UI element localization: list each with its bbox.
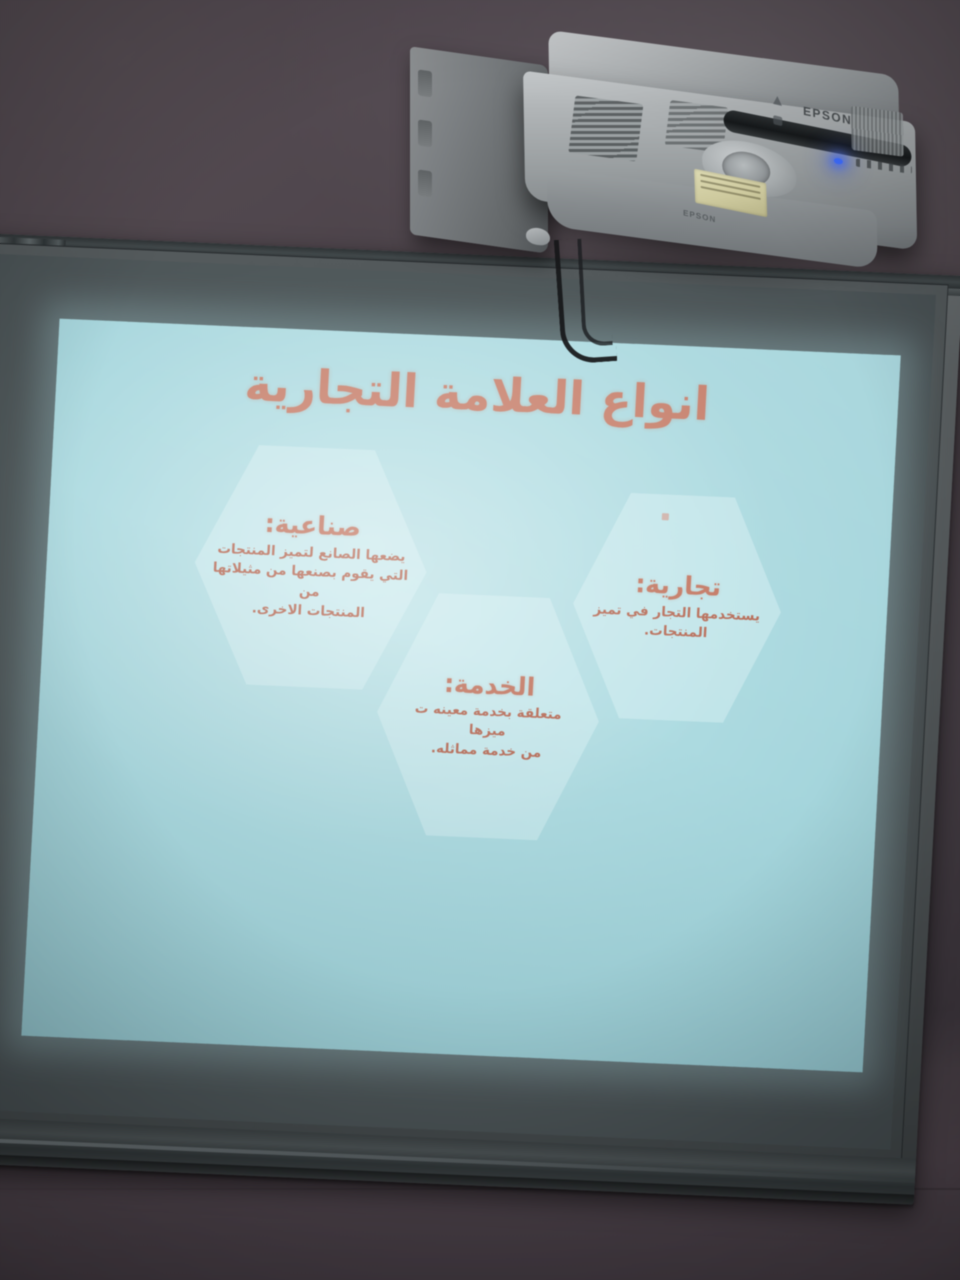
mount-slot — [418, 169, 432, 197]
hexagon-industrial-body: يضعها الصانع لتميز المنتجات التي يقوم بص… — [208, 539, 411, 626]
hexagon-commercial-heading: تجارية: — [635, 571, 722, 601]
mount-slot — [418, 119, 432, 147]
hexagon-service-heading: الخدمة: — [443, 670, 535, 700]
hexagon-service-body: متعلقة بخدمة معينه ت ميزها من خدمة مماثل… — [412, 699, 562, 764]
mount-slot — [418, 69, 432, 97]
hexagon-industrial: صناعية: يضعها الصانع لتميز المنتجات التي… — [188, 435, 433, 700]
slide-title: انواع العلامة التجارية — [55, 349, 899, 440]
hexagon-service: الخدمة: متعلقة بخدمة معينه ت ميزها من خد… — [370, 583, 606, 850]
whiteboard-frame: انواع العلامة التجارية صناعية: يضعها الص… — [0, 232, 960, 1205]
hexagon-industrial-heading: صناعية: — [264, 511, 362, 541]
hexagon-commercial: تجارية: يستخدمها التجار في تميز المنتجات… — [567, 484, 788, 733]
projector-exhaust-vent — [568, 95, 643, 161]
whiteboard-surface[interactable]: انواع العلامة التجارية صناعية: يضعها الص… — [0, 253, 936, 1150]
classroom-projection-scene: انواع العلامة التجارية صناعية: يضعها الص… — [0, 0, 960, 1280]
interactive-whiteboard[interactable]: انواع العلامة التجارية صناعية: يضعها الص… — [0, 232, 960, 1205]
projector-port-icon — [773, 115, 782, 126]
projector-speaker-grille — [851, 106, 904, 157]
projector-signal-cable — [577, 237, 613, 346]
epson-projector[interactable]: EPSON EPSON — [404, 42, 914, 292]
hexagon-commercial-body: يستخدمها التجار في تميز المنتجات. — [592, 600, 761, 646]
projected-slide: انواع العلامة التجارية صناعية: يضعها الص… — [21, 319, 900, 1073]
